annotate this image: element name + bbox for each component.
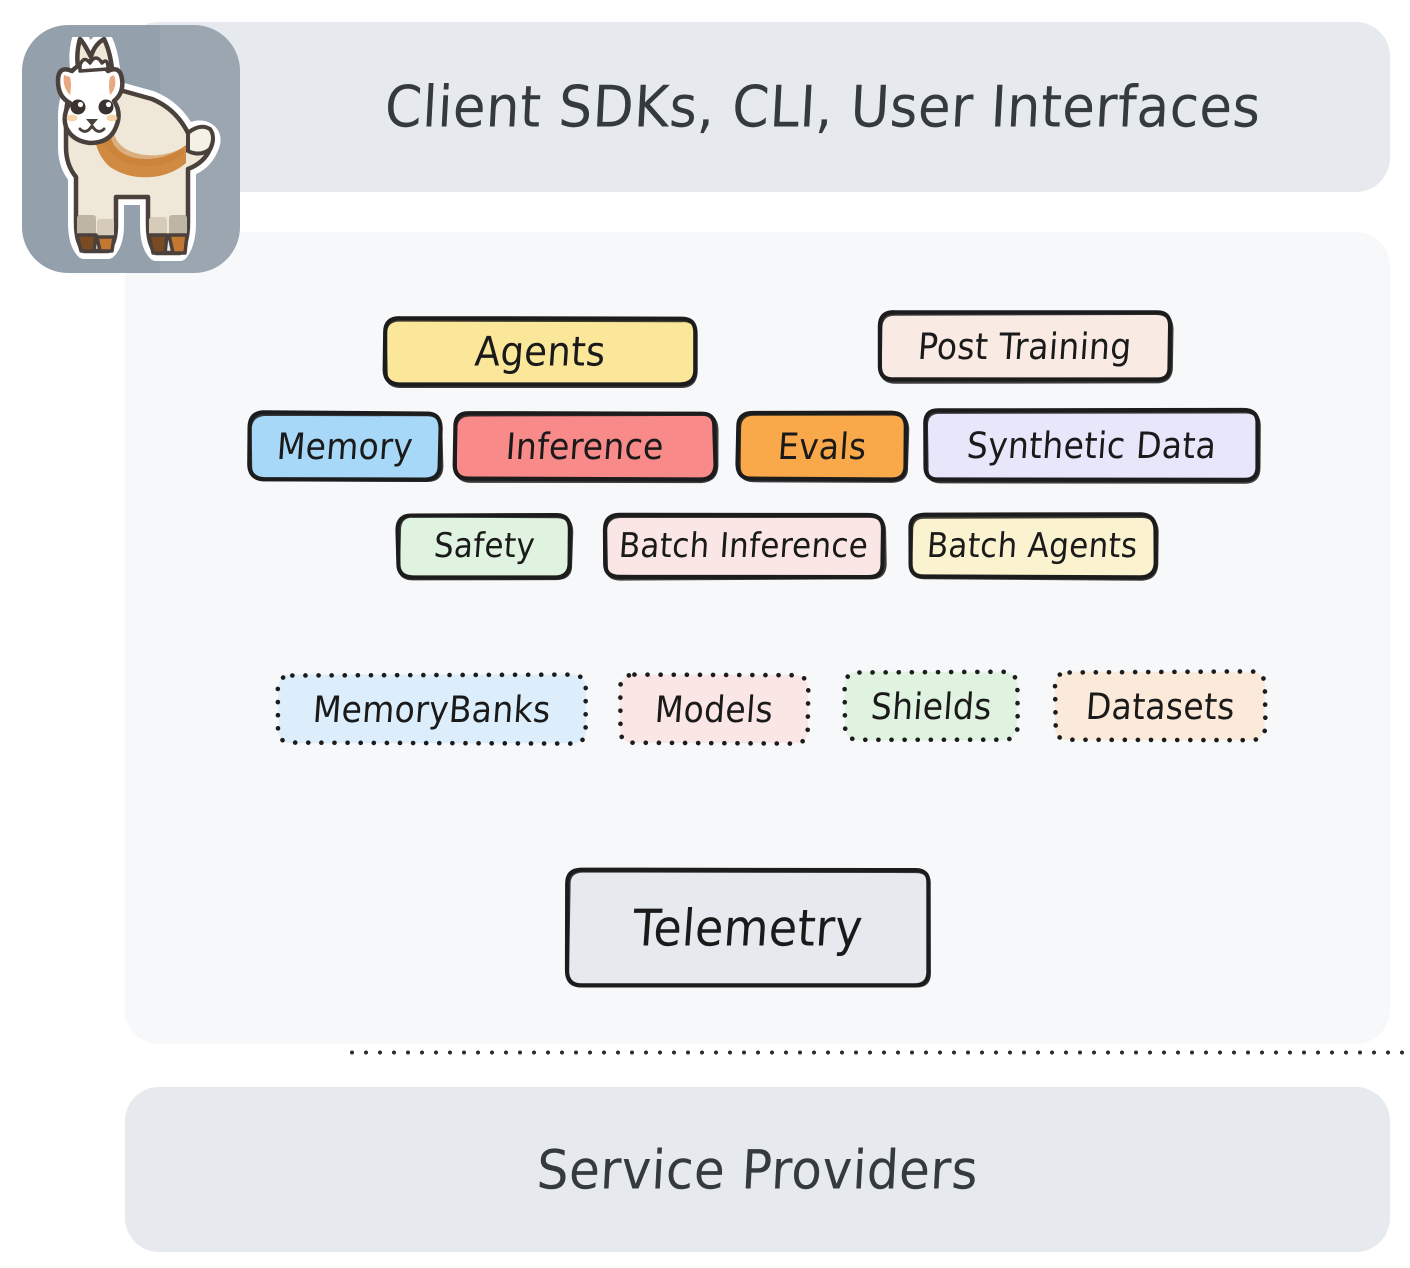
resource-box-memorybanks[interactable]: MemoryBanks xyxy=(278,675,586,743)
client-sdk-banner-label: Client SDKs, CLI, User Interfaces xyxy=(253,74,1262,140)
api-box-evals-label: Evals xyxy=(776,425,867,468)
api-box-memory-label: Memory xyxy=(275,425,414,468)
api-box-safety-label: Safety xyxy=(432,526,536,566)
api-box-post-training[interactable]: Post Training xyxy=(880,312,1170,380)
api-box-batch-inference-label: Batch Inference xyxy=(618,526,870,566)
api-stack-panel: AgentsPost TrainingMemoryInferenceEvalsS… xyxy=(125,232,1390,1044)
api-box-memory[interactable]: Memory xyxy=(250,413,440,479)
api-box-batch-agents-label: Batch Agents xyxy=(926,526,1139,566)
dotted-divider xyxy=(345,1050,1410,1055)
api-box-agents-label: Agents xyxy=(473,327,607,374)
client-sdk-banner: Client SDKs, CLI, User Interfaces xyxy=(125,22,1390,192)
resource-box-datasets-label: Datasets xyxy=(1084,685,1236,728)
resource-box-shields[interactable]: Shields xyxy=(845,672,1017,740)
service-providers-banner-label: Service Providers xyxy=(535,1138,979,1201)
telemetry-box[interactable]: Telemetry xyxy=(567,870,929,985)
resource-box-models[interactable]: Models xyxy=(620,675,808,743)
api-box-batch-agents[interactable]: Batch Agents xyxy=(910,515,1155,577)
api-box-post-training-label: Post Training xyxy=(917,325,1134,368)
service-providers-banner: Service Providers xyxy=(125,1087,1390,1252)
api-box-safety[interactable]: Safety xyxy=(398,515,570,577)
resource-box-models-label: Models xyxy=(653,688,774,731)
api-box-evals[interactable]: Evals xyxy=(738,413,906,479)
api-box-inference-label: Inference xyxy=(505,425,666,468)
api-box-batch-inference[interactable]: Batch Inference xyxy=(605,515,883,577)
llama-icon xyxy=(36,37,226,263)
llama-logo-tile xyxy=(22,25,240,273)
resource-box-shields-label: Shields xyxy=(869,685,993,728)
api-box-synthetic-data-label: Synthetic Data xyxy=(965,424,1217,467)
resource-box-datasets[interactable]: Datasets xyxy=(1055,672,1265,740)
api-box-synthetic-data[interactable]: Synthetic Data xyxy=(925,410,1258,480)
telemetry-box-label: Telemetry xyxy=(631,898,865,957)
api-box-inference[interactable]: Inference xyxy=(455,413,715,479)
api-box-agents[interactable]: Agents xyxy=(385,318,695,384)
resource-box-memorybanks-label: MemoryBanks xyxy=(312,688,553,731)
